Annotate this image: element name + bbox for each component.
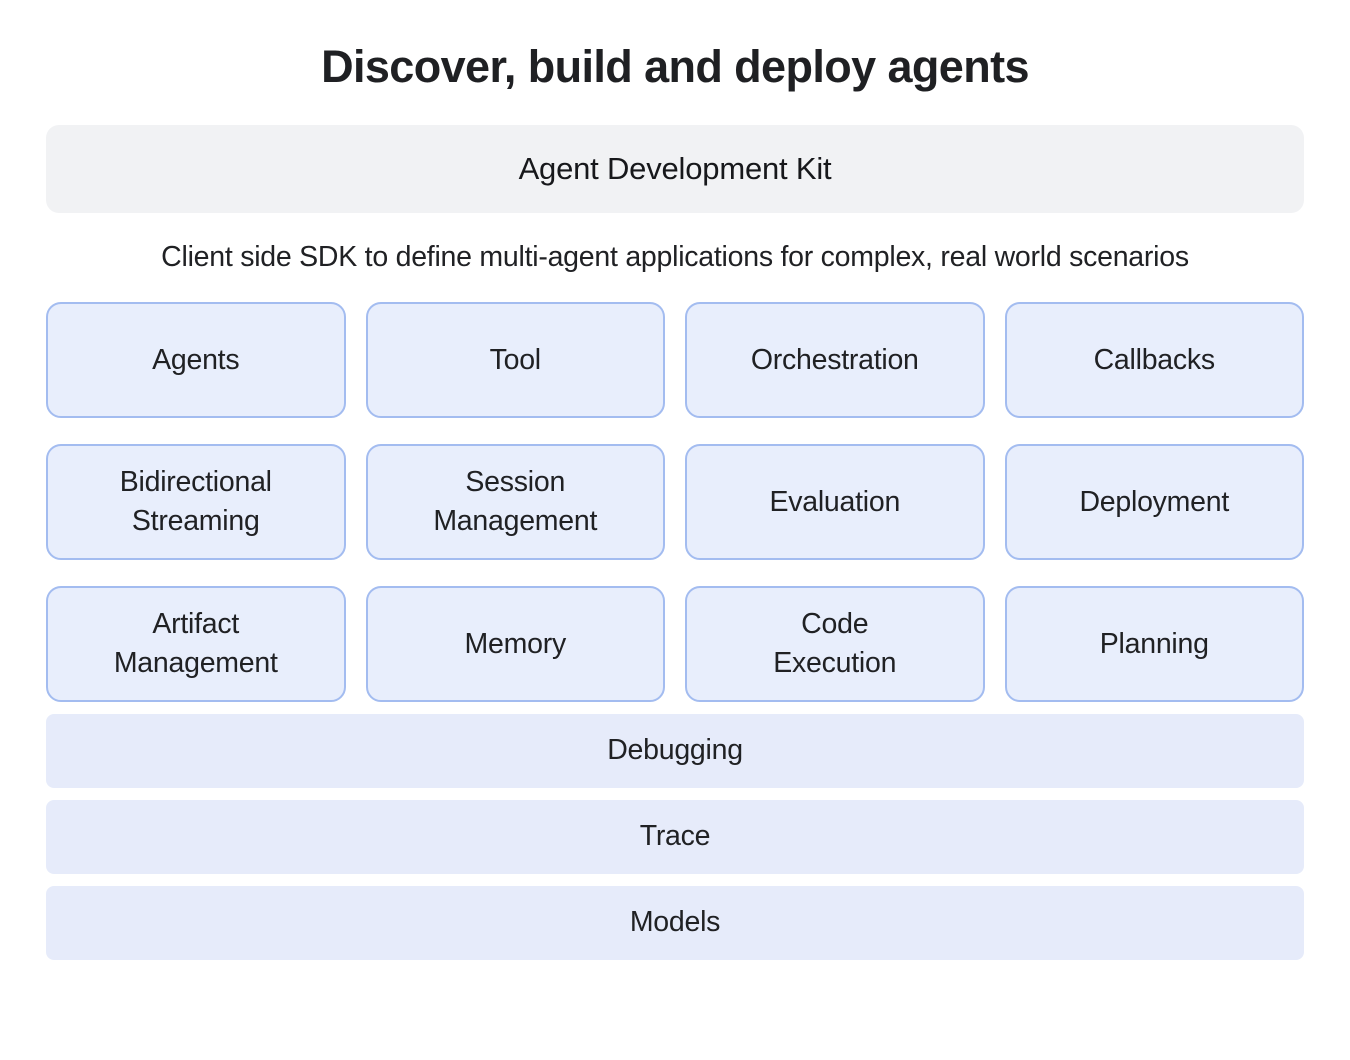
capability-card-label: Orchestration (751, 341, 919, 379)
capability-card-planning[interactable]: Planning (1005, 586, 1305, 702)
foundation-bar-label: Models (630, 906, 720, 939)
capability-card-label: Bidirectional Streaming (120, 463, 272, 540)
capability-card-bidirectional-streaming[interactable]: Bidirectional Streaming (46, 444, 346, 560)
page-title: Discover, build and deploy agents (46, 0, 1304, 93)
capability-card-label: Artifact Management (114, 605, 278, 682)
capability-row-2: Bidirectional Streaming Session Manageme… (46, 444, 1304, 560)
foundation-bar-stack: Debugging Trace Models (46, 714, 1304, 960)
capability-card-tool[interactable]: Tool (366, 302, 666, 418)
capability-card-label: Deployment (1079, 483, 1229, 521)
capability-card-orchestration[interactable]: Orchestration (685, 302, 985, 418)
foundation-bar-debugging[interactable]: Debugging (46, 714, 1304, 788)
capability-card-artifact-management[interactable]: Artifact Management (46, 586, 346, 702)
capability-card-label: Agents (152, 341, 239, 379)
capability-card-label: Memory (465, 625, 566, 663)
capability-card-label: Evaluation (769, 483, 900, 521)
foundation-bar-label: Debugging (607, 734, 743, 767)
capability-card-session-management[interactable]: Session Management (366, 444, 666, 560)
foundation-bar-trace[interactable]: Trace (46, 800, 1304, 874)
capability-card-label: Session Management (433, 463, 597, 540)
capability-grid: Agents Tool Orchestration Callbacks Bidi… (46, 302, 1304, 702)
kit-subtitle: Client side SDK to define multi-agent ap… (46, 240, 1304, 274)
foundation-bar-label: Trace (640, 820, 711, 853)
foundation-bar-models[interactable]: Models (46, 886, 1304, 960)
capability-card-callbacks[interactable]: Callbacks (1005, 302, 1305, 418)
capability-card-memory[interactable]: Memory (366, 586, 666, 702)
capability-row-1: Agents Tool Orchestration Callbacks (46, 302, 1304, 418)
capability-card-agents[interactable]: Agents (46, 302, 346, 418)
capability-card-code-execution[interactable]: Code Execution (685, 586, 985, 702)
adk-architecture-diagram: Discover, build and deploy agents Agent … (0, 0, 1350, 1060)
agent-development-kit-label: Agent Development Kit (519, 151, 832, 187)
capability-card-evaluation[interactable]: Evaluation (685, 444, 985, 560)
capability-card-deployment[interactable]: Deployment (1005, 444, 1305, 560)
capability-card-label: Code Execution (773, 605, 896, 682)
capability-card-label: Planning (1100, 625, 1209, 663)
capability-card-label: Callbacks (1094, 341, 1215, 379)
capability-row-3: Artifact Management Memory Code Executio… (46, 586, 1304, 702)
agent-development-kit-header: Agent Development Kit (46, 125, 1304, 213)
capability-card-label: Tool (490, 341, 541, 379)
